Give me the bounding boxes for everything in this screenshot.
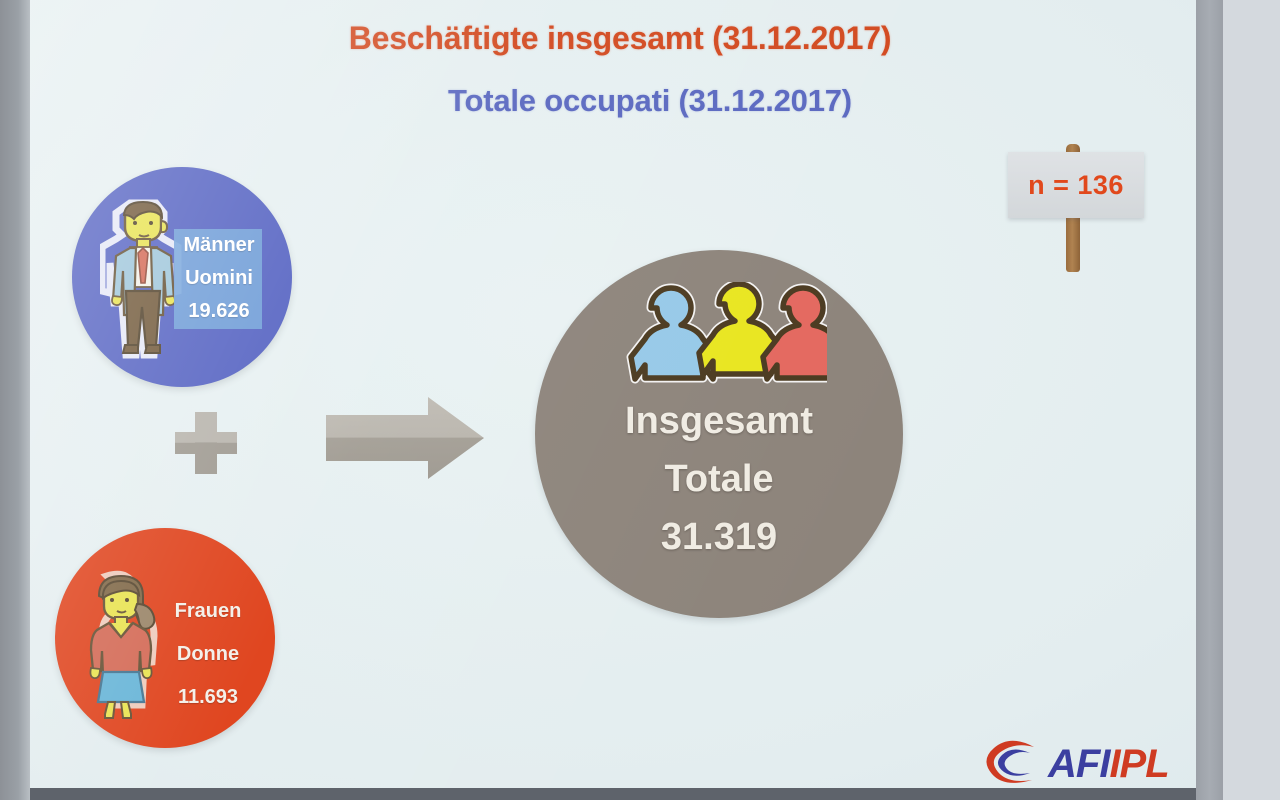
total-label-de: Insgesamt xyxy=(535,392,903,450)
afi-ipl-logo[interactable]: AFIIPL xyxy=(980,738,1210,792)
women-bubble[interactable]: Frauen Donne 11.693 xyxy=(55,528,275,748)
women-label-it: Donne xyxy=(153,633,263,676)
logo-wordmark: AFIIPL xyxy=(1048,739,1169,789)
plus-bar-vertical xyxy=(195,412,217,474)
plus-sign-icon xyxy=(175,412,237,474)
logo-ipl-text: IPL xyxy=(1109,742,1168,786)
projection-screen-left-edge xyxy=(0,0,30,800)
afi-swoosh-icon xyxy=(980,738,1044,790)
women-value: 11.693 xyxy=(153,676,263,719)
sample-size-signpost[interactable]: n = 136 xyxy=(978,140,1148,280)
women-label-block: Frauen Donne 11.693 xyxy=(153,590,263,719)
total-label-block: Insgesamt Totale 31.319 xyxy=(535,392,903,566)
woman-figure-icon xyxy=(77,570,165,720)
men-label-block: Männer Uomini 19.626 xyxy=(168,229,270,328)
sample-size-label: n = 136 xyxy=(1008,152,1144,218)
slide-title-italian: Totale occupati (31.12.2017) xyxy=(67,83,1233,119)
logo-afi-text: AFI xyxy=(1048,742,1109,786)
slide-title-german: Beschäftigte insgesamt (31.12.2017) xyxy=(37,20,1203,57)
men-value: 19.626 xyxy=(168,295,270,328)
total-value: 31.319 xyxy=(535,508,903,566)
men-label-it: Uomini xyxy=(168,262,270,295)
right-arrow-icon xyxy=(324,393,486,483)
three-people-group-icon xyxy=(611,282,827,386)
total-bubble[interactable]: Insgesamt Totale 31.319 xyxy=(535,250,903,618)
men-label-de: Männer xyxy=(168,229,270,262)
men-bubble[interactable]: Männer Uomini 19.626 xyxy=(72,167,292,387)
projected-slide-photo: Beschäftigte insgesamt (31.12.2017) Tota… xyxy=(0,0,1280,800)
women-label-de: Frauen xyxy=(153,590,263,633)
signpost-board: n = 136 xyxy=(1008,152,1144,218)
slide-bottom-edge xyxy=(30,788,1223,800)
total-label-it: Totale xyxy=(535,450,903,508)
projection-screen-right-outer xyxy=(1223,0,1280,800)
projection-screen-right-band xyxy=(1196,0,1223,800)
slide-canvas: Beschäftigte insgesamt (31.12.2017) Tota… xyxy=(30,0,1196,790)
